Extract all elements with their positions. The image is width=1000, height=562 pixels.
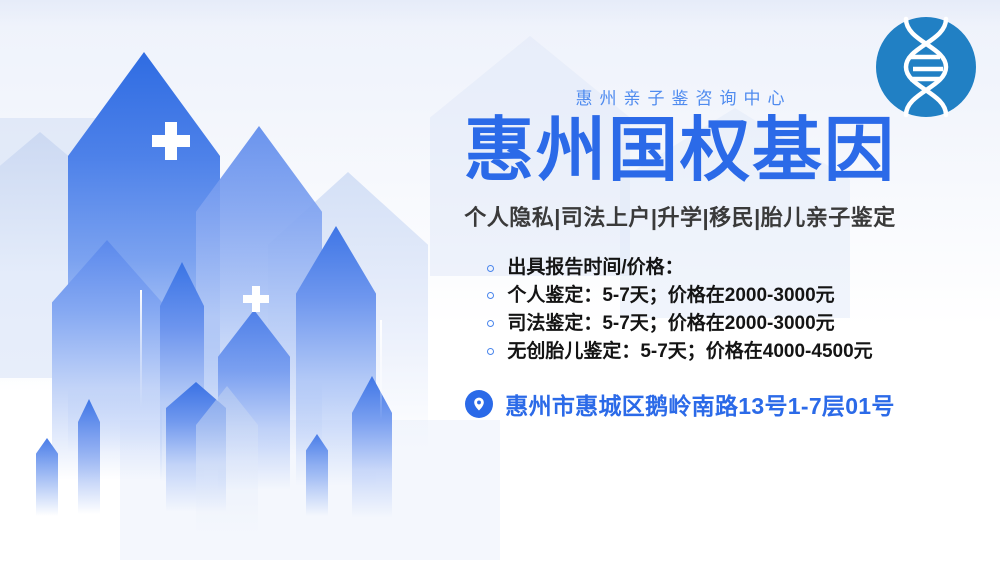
bullet-circle-icon <box>487 348 494 355</box>
list-item: 个人鉴定：5-7天；价格在2000-3000元 <box>487 282 872 310</box>
bullet-circle-icon <box>487 320 494 327</box>
info-bullet-list: 出具报告时间/价格： 个人鉴定：5-7天；价格在2000-3000元 司法鉴定：… <box>487 254 872 365</box>
list-item-label: 无创胎儿鉴定：5-7天；价格在4000-4500元 <box>507 338 872 366</box>
banner-content: 惠州亲子鉴咨询中心 惠州国权基因 个人隐私|司法上户|升学|移民|胎儿亲子鉴定 … <box>390 84 970 421</box>
building-block-d <box>306 434 328 516</box>
address-row: 惠州市惠城区鹅岭南路13号1-7层01号 <box>390 387 970 421</box>
page-title: 惠州国权基因 <box>390 115 970 186</box>
address-text: 惠州市惠城区鹅岭南路13号1-7层01号 <box>505 387 894 421</box>
list-item: 出具报告时间/价格： <box>487 254 872 282</box>
list-item-label: 出具报告时间/价格： <box>507 254 683 282</box>
services-tagline: 个人隐私|司法上户|升学|移民|胎儿亲子鉴定 <box>390 200 970 232</box>
antenna-left <box>140 290 142 408</box>
promo-banner: 惠州亲子鉴咨询中心 惠州国权基因 个人隐私|司法上户|升学|移民|胎儿亲子鉴定 … <box>0 0 1000 562</box>
building-block-c <box>36 438 58 516</box>
antenna-right <box>380 320 382 420</box>
bullet-circle-icon <box>487 265 494 272</box>
list-item: 无创胎儿鉴定：5-7天；价格在4000-4500元 <box>487 338 872 366</box>
eyebrow-text: 惠州亲子鉴咨询中心 <box>390 84 970 109</box>
list-item: 司法鉴定：5-7天；价格在2000-3000元 <box>487 310 872 338</box>
list-item-label: 个人鉴定：5-7天；价格在2000-3000元 <box>507 282 834 310</box>
building-block-b <box>78 399 100 514</box>
medical-cross-icon-large <box>152 122 190 160</box>
bullet-circle-icon <box>487 292 494 299</box>
list-item-label: 司法鉴定：5-7天；价格在2000-3000元 <box>507 310 834 338</box>
medical-cross-icon-small <box>243 286 269 312</box>
location-pin-icon <box>465 390 493 418</box>
